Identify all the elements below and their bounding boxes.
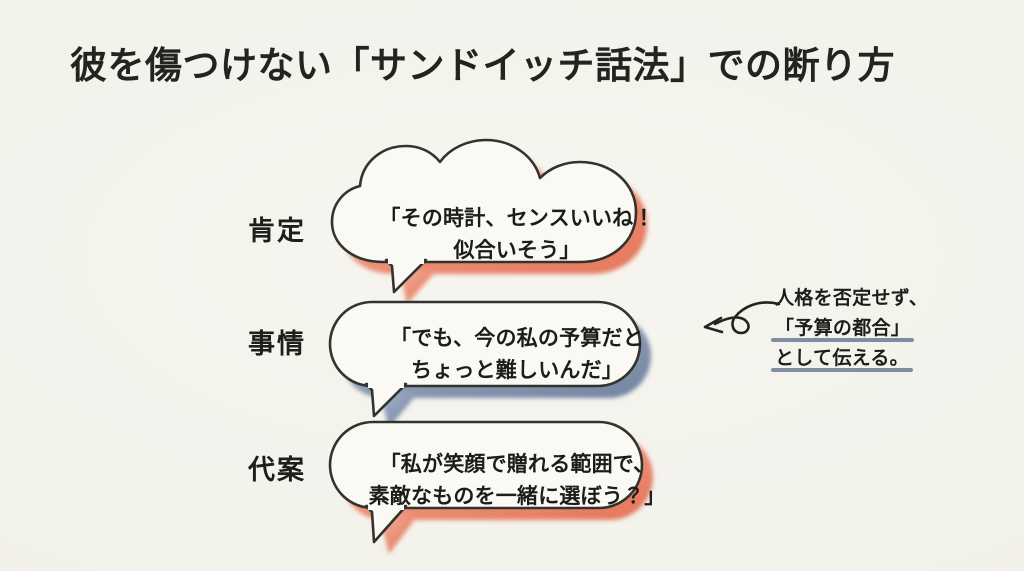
annotation-note: 人格を否定せず、 「予算の都合」 として伝える。	[775, 283, 1005, 373]
annotation-line-1: 人格を否定せず、	[775, 283, 928, 313]
step-label-affirm: 肯定	[248, 209, 306, 248]
bubble-body-reason	[330, 302, 640, 416]
annotation-line-3: として伝える。	[775, 343, 909, 373]
step-label-reason: 事情	[248, 322, 306, 361]
bubble-body-alternative	[330, 422, 642, 542]
annotation-line-2: 「予算の都合」	[775, 313, 910, 343]
speech-bubble-reason: 「でも、今の私の予算だと ちょっと難しいんだ」	[322, 298, 712, 418]
speech-bubble-alternative: 「私が笑顔で贈れる範囲で、 素敵なものを一緒に選ぼう？」	[322, 418, 712, 548]
slide-canvas: 彼を傷つけない「サンドイッチ話法」での断り方 肯定	[0, 0, 1024, 571]
page-title: 彼を傷つけない「サンドイッチ話法」での断り方	[70, 44, 970, 88]
step-label-alternative: 代案	[248, 448, 306, 487]
speech-bubble-affirm: 「その時計、センスいいね！ 似合いそう」	[322, 140, 712, 300]
